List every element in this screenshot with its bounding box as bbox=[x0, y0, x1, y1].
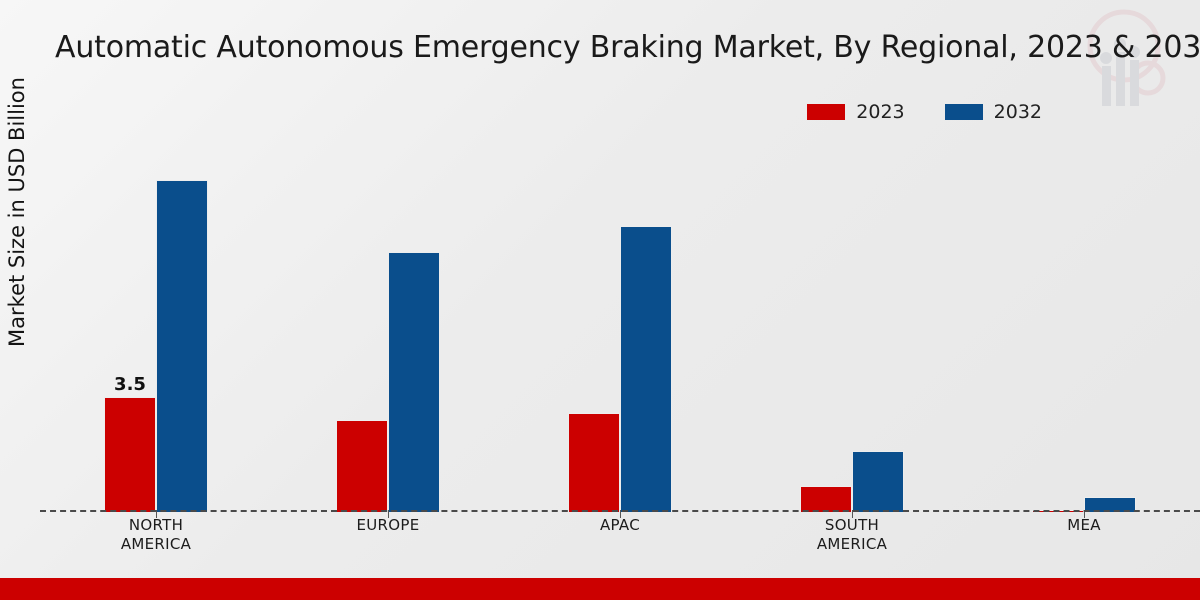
bar-2032-europe[interactable] bbox=[388, 252, 440, 512]
legend-label-2032: 2032 bbox=[994, 101, 1042, 123]
legend-swatch-2032 bbox=[945, 104, 983, 120]
x-axis-label-north-america: NORTHAMERICA bbox=[40, 516, 272, 554]
bar-group-apac bbox=[504, 150, 736, 512]
bar-group-europe bbox=[272, 150, 504, 512]
plot-area: 3.5 bbox=[40, 150, 1200, 512]
legend-swatch-2023 bbox=[807, 104, 845, 120]
bar-2023-apac[interactable] bbox=[568, 413, 620, 512]
legend-label-2023: 2023 bbox=[856, 101, 904, 123]
bar-2023-north-america[interactable]: 3.5 bbox=[104, 397, 156, 512]
x-axis-tick-labels: NORTHAMERICAEUROPEAPACSOUTHAMERICAMEA bbox=[40, 516, 1200, 554]
bar-2032-apac[interactable] bbox=[620, 226, 672, 512]
x-axis-label-mea: MEA bbox=[968, 516, 1200, 554]
bar-group-mea bbox=[968, 150, 1200, 512]
chart-legend: 2023 2032 bbox=[807, 101, 1042, 123]
bar-2023-europe[interactable] bbox=[336, 420, 388, 512]
bar-groups: 3.5 bbox=[40, 150, 1200, 512]
bar-group-north-america: 3.5 bbox=[40, 150, 272, 512]
bar-2023-south-america[interactable] bbox=[800, 486, 852, 512]
watermark-logo-icon bbox=[1062, 8, 1182, 126]
x-axis-line bbox=[40, 510, 1200, 512]
bottom-accent-band bbox=[0, 578, 1200, 600]
legend-item-2023[interactable]: 2023 bbox=[807, 101, 904, 123]
y-axis-title: Market Size in USD Billion bbox=[5, 47, 29, 377]
x-axis-label-south-america: SOUTHAMERICA bbox=[736, 516, 968, 554]
bar-value-label: 3.5 bbox=[114, 374, 146, 395]
x-axis-label-apac: APAC bbox=[504, 516, 736, 554]
bar-group-south-america bbox=[736, 150, 968, 512]
bar-2032-north-america[interactable] bbox=[156, 180, 208, 512]
chart-container: Automatic Autonomous Emergency Braking M… bbox=[0, 0, 1200, 600]
x-axis-label-europe: EUROPE bbox=[272, 516, 504, 554]
chart-title: Automatic Autonomous Emergency Braking M… bbox=[55, 30, 1200, 65]
bar-2032-south-america[interactable] bbox=[852, 451, 904, 512]
legend-item-2032[interactable]: 2032 bbox=[945, 101, 1042, 123]
